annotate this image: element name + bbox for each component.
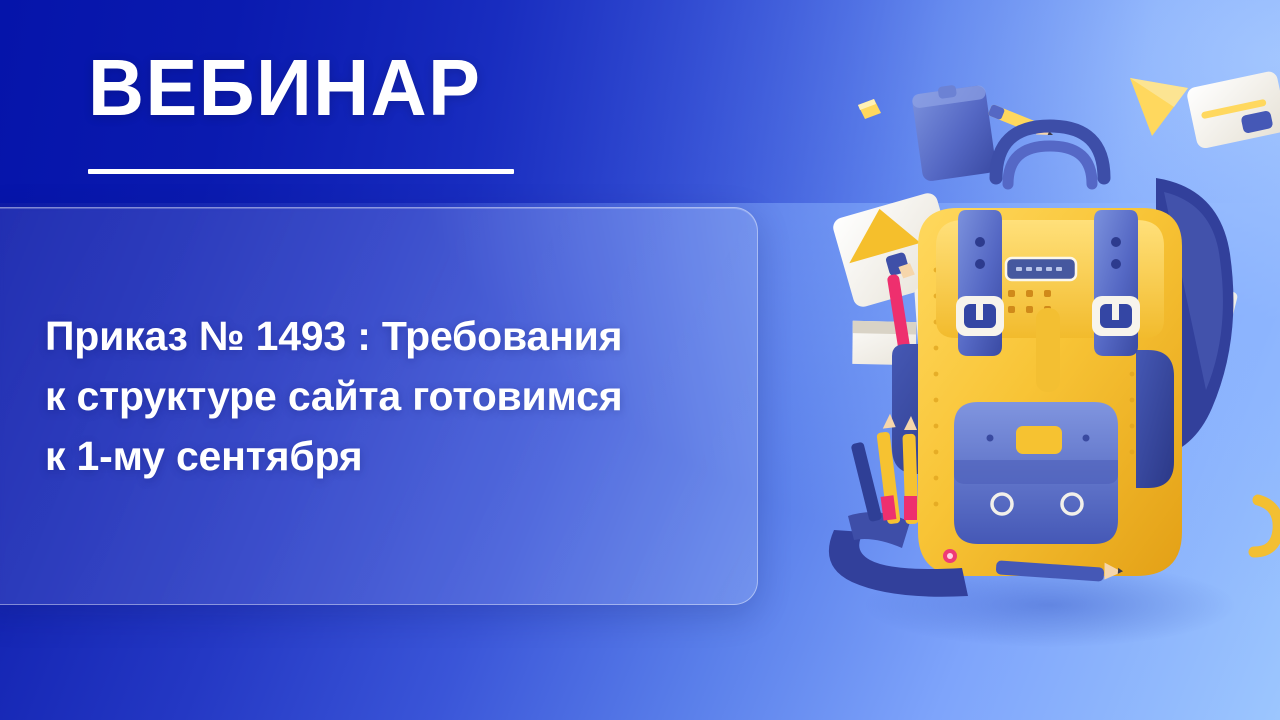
center-tab: [1036, 308, 1060, 392]
floating-card-white: [1186, 70, 1280, 150]
left-side-pocket-pencils: [887, 263, 936, 399]
shoulder-straps: [958, 210, 1138, 356]
title-underline-rule: [88, 169, 514, 174]
pocket-grommet-right: [1062, 494, 1082, 514]
headline-line-3: к 1-му сентября: [45, 426, 759, 486]
pocket-grommet-left: [992, 494, 1012, 514]
headline-line-2: к структуре сайта готовимся: [45, 366, 759, 426]
bottom-pencil-cluster: [851, 413, 919, 524]
headline-line-1: Приказ № 1493 : Требования: [45, 306, 759, 366]
headline-card: Приказ № 1493 : Требования к структуре с…: [0, 207, 758, 605]
small-pink-flower: [943, 549, 957, 563]
webinar-slide: ВЕБИНАР Приказ № 1493 : Требования к стр…: [0, 0, 1280, 720]
stitching-dots: [934, 268, 1135, 507]
floating-paper-roll: [843, 307, 926, 379]
bottom-strap-loop: [829, 530, 968, 597]
strap-buckles: [956, 296, 1140, 336]
backpack-top-flap: [936, 220, 1164, 338]
front-pocket-clasp: [1016, 426, 1062, 454]
floating-card-house: [831, 191, 960, 309]
floating-eraser-small: [858, 99, 881, 119]
front-pocket: [954, 402, 1118, 544]
right-side-pocket-pencils: [1183, 265, 1238, 394]
floating-notebook-blue: [911, 81, 997, 182]
floating-triangle-ruler-yellow: [1130, 78, 1188, 136]
kicker-title: ВЕБИНАР: [88, 46, 481, 130]
floating-pencil-diagonal: [988, 104, 1056, 141]
flap-rivet-dots: [1008, 290, 1051, 313]
bottom-horizontal-pencil: [996, 560, 1124, 581]
left-pocket: [892, 344, 976, 474]
back-strap-silhouette: [1156, 178, 1233, 458]
right-bottom-ring: [1254, 500, 1278, 552]
backpack-handle: [996, 126, 1104, 178]
right-pocket: [1136, 350, 1174, 488]
backpack-illustration: [800, 60, 1280, 680]
brand-label-patch: [1006, 258, 1076, 280]
headline-text: Приказ № 1493 : Требования к структуре с…: [45, 306, 759, 486]
backpack-body: [918, 208, 1182, 576]
